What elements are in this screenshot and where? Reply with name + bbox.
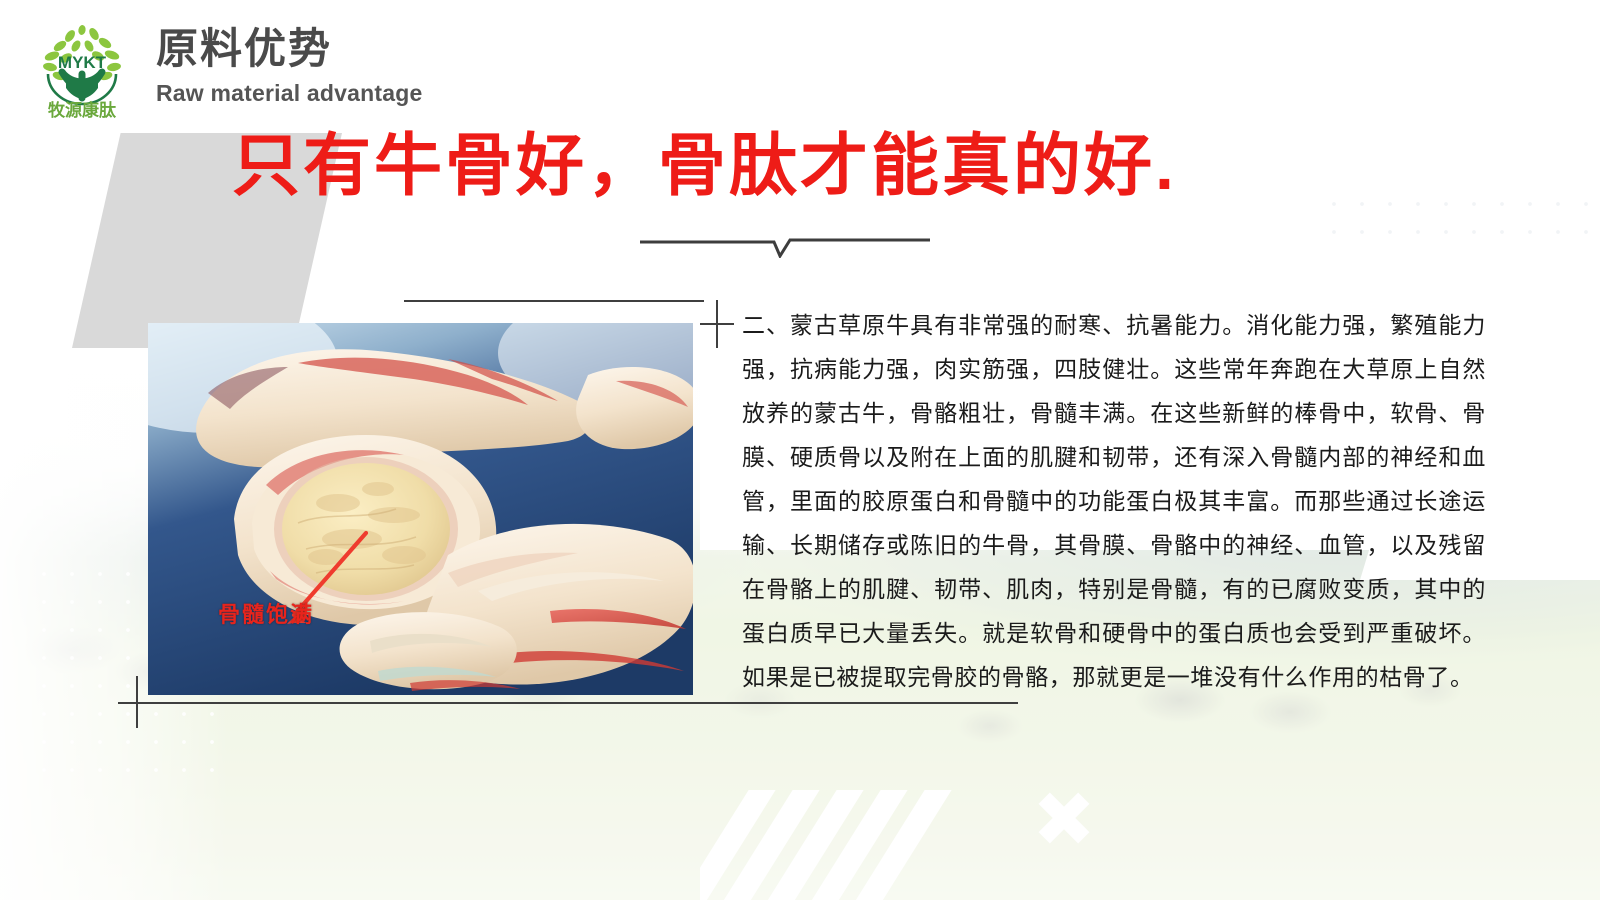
headline-text: 只有牛骨好，骨肽才能真的好. — [232, 132, 1352, 200]
page-header: 原料优势 Raw material advantage — [156, 28, 422, 107]
bone-photo-illustration — [148, 323, 693, 695]
svg-text:MYKT: MYKT — [58, 53, 107, 72]
decor-cross-right — [700, 300, 734, 348]
photo-caption-label: 骨髓饱满 — [218, 597, 314, 629]
page-title-cn: 原料优势 — [156, 28, 422, 70]
brand-logo: MYKT 牧源康肽 — [26, 10, 138, 122]
tree-hands-logo-icon: MYKT 牧源康肽 — [26, 10, 138, 122]
slide-canvas: MYKT 牧源康肽 原料优势 Raw material advantage 只有… — [0, 0, 1600, 900]
white-x-mark-icon — [1036, 790, 1092, 846]
white-diagonal-stripes — [700, 790, 1080, 900]
page-title-en: Raw material advantage — [156, 80, 422, 107]
beef-bone-photo: 骨髓饱满 — [148, 323, 693, 695]
body-paragraph: 二、蒙古草原牛具有非常强的耐寒、抗暑能力。消化能力强，繁殖能力强，抗病能力强，肉… — [742, 303, 1486, 699]
notched-divider-icon — [640, 232, 930, 258]
decor-line-top — [404, 300, 704, 304]
logo-name-cn: 牧源康肽 — [48, 100, 117, 120]
